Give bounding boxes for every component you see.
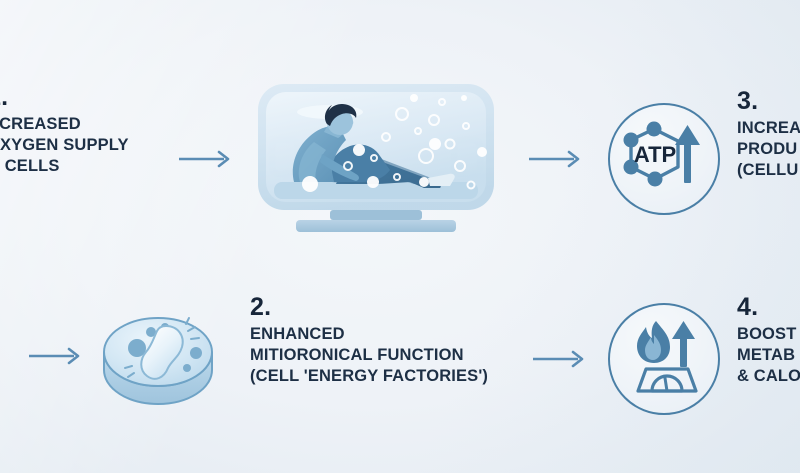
step-4-line-3: & CALO <box>737 366 800 387</box>
step-3-line-1: INCREA <box>737 118 800 139</box>
step-1-number: 1. <box>0 84 129 110</box>
step-1-line-2: OXYGEN SUPPLY <box>0 135 129 156</box>
step-2-line-3: (CELL 'ENERGY FACTORIES') <box>250 366 488 387</box>
step-2-line-2: MITIORONICAL FUNCTION <box>250 345 488 366</box>
infographic-canvas: 1. NCREASED OXYGEN SUPPLY O CELLS <box>0 0 800 473</box>
step-2-text-block: 2. ENHANCED MITIORONICAL FUNCTION (CELL … <box>250 294 488 387</box>
arrow-step2-to-metabolism <box>532 348 588 370</box>
step-3-line-2: PRODU <box>737 139 800 160</box>
step-1-text-block: 1. NCREASED OXYGEN SUPPLY O CELLS <box>0 84 129 177</box>
atp-molecule-glyph: ATP <box>610 105 718 213</box>
hyperbaric-chamber-illustration <box>228 78 522 240</box>
arrow-chamber-to-atp <box>528 148 584 170</box>
step-2-number: 2. <box>250 294 488 320</box>
step-1-line-1: NCREASED <box>0 114 129 135</box>
flame-icon <box>637 321 670 363</box>
arrow-into-cell <box>28 345 84 367</box>
metabolism-flame-gauge-icon <box>608 303 720 415</box>
atp-label: ATP <box>634 142 676 167</box>
step-4-line-2: METAB <box>737 345 800 366</box>
step-3-text-block: 3. INCREA PRODU (CELLU <box>737 88 800 181</box>
step-4-number: 4. <box>737 294 800 320</box>
arrow-step1-to-chamber <box>178 148 234 170</box>
cell-mitochondria-illustration <box>96 296 226 416</box>
atp-molecule-icon: ATP <box>608 103 720 215</box>
step-3-number: 3. <box>737 88 800 114</box>
step-2-line-1: ENHANCED <box>250 324 488 345</box>
flame-gauge-glyph <box>610 305 718 413</box>
step-1-line-3: O CELLS <box>0 156 129 177</box>
step-4-text-block: 4. BOOST METAB & CALO <box>737 294 800 387</box>
step-4-line-1: BOOST <box>737 324 800 345</box>
step-3-line-3: (CELLU <box>737 160 800 181</box>
up-arrow-icon <box>672 321 695 367</box>
